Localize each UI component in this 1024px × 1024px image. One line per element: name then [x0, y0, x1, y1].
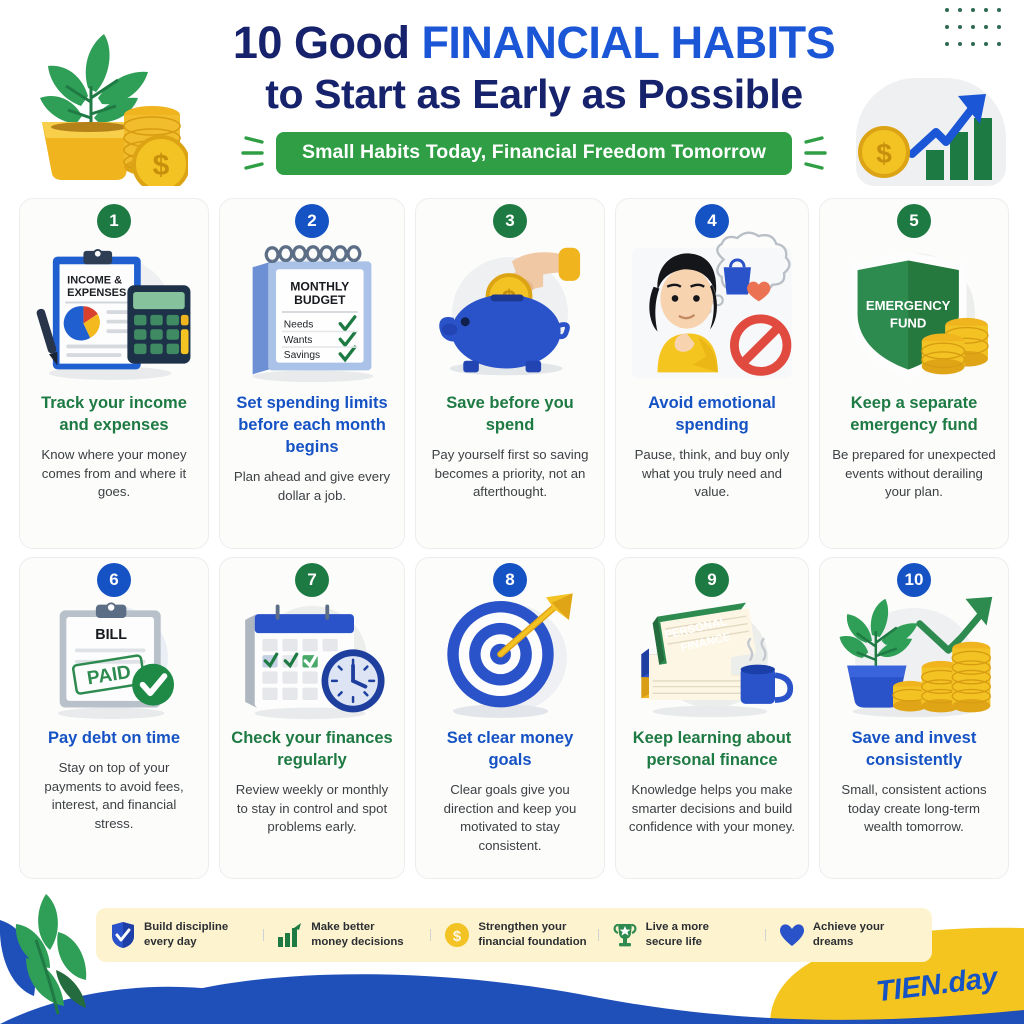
- habit-card-3[interactable]: 3 $ Save: [415, 198, 605, 549]
- habit-description: Stay on top of your payments to avoid fe…: [28, 759, 200, 834]
- habit-number-badge: 10: [897, 563, 931, 597]
- benefit-label: Live a more secure life: [646, 920, 709, 950]
- dollar-coin-icon: $: [444, 922, 470, 948]
- habit-description: Small, consistent actions today create l…: [828, 781, 1000, 837]
- svg-text:EMERGENCY: EMERGENCY: [866, 298, 951, 313]
- svg-text:$: $: [153, 149, 170, 182]
- habit-card-5[interactable]: 5 EMERGENCY FUND: [819, 198, 1009, 549]
- benefit-line1: Achieve your: [813, 921, 885, 933]
- habit-number-badge: 3: [493, 204, 527, 238]
- habit-title: Check your finances regularly: [228, 728, 396, 772]
- habit-card-6[interactable]: 6 BILL PAID Pay debt on ti: [19, 557, 209, 879]
- monthly-budget-notepad-icon: MONTHLY BUDGET Needs Wants Savings: [228, 239, 396, 387]
- habit-card-2[interactable]: 2 MONTHLY BUDGET Needs Wants Savings: [219, 198, 405, 549]
- habit-card-8[interactable]: 8 Set clear money goals Clear goals give…: [415, 557, 605, 879]
- benefit-label: Make better money decisions: [311, 920, 403, 950]
- habit-title: Keep learning about personal finance: [624, 728, 800, 772]
- habit-card-10[interactable]: 10: [819, 557, 1009, 879]
- bar-chart-up-icon: [277, 922, 303, 948]
- benefit-line1: Strengthen your: [478, 921, 566, 933]
- habit-card-7[interactable]: 7: [219, 557, 405, 879]
- benefit-line1: Live a more: [646, 921, 709, 933]
- habit-title: Track your income and expenses: [28, 393, 200, 437]
- svg-text:EXPENSES: EXPENSES: [67, 287, 126, 299]
- benefit-item-dreams[interactable]: Achieve your dreams: [765, 920, 932, 950]
- benefit-line2: dreams: [813, 936, 854, 948]
- target-with-arrow-icon: [424, 594, 596, 722]
- benefit-item-discipline[interactable]: Build discipline every day: [96, 920, 263, 950]
- svg-text:Savings: Savings: [284, 350, 320, 361]
- shield-check-icon: [110, 922, 136, 948]
- benefit-line2: money decisions: [311, 936, 403, 948]
- habit-card-4[interactable]: 4: [615, 198, 809, 549]
- trophy-icon: [612, 922, 638, 948]
- habit-description: Pay yourself first so saving becomes a p…: [424, 446, 596, 502]
- hand-dropping-coin-into-piggy-bank-icon: $: [424, 239, 596, 387]
- benefit-item-secure-life[interactable]: Live a more secure life: [598, 920, 765, 950]
- coin-dollar-label: $: [876, 138, 892, 169]
- habit-description: Review weekly or monthly to stay in cont…: [228, 781, 396, 837]
- title-plain-part: 10 Good: [233, 17, 422, 68]
- heart-icon: [779, 922, 805, 948]
- emergency-fund-shield-with-coins-icon: EMERGENCY FUND: [828, 239, 1000, 387]
- benefit-line2: financial foundation: [478, 936, 586, 948]
- habit-number-badge: 9: [695, 563, 729, 597]
- benefit-line1: Make better: [311, 921, 374, 933]
- habit-description: Clear goals give you direction and keep …: [424, 781, 596, 856]
- svg-text:$: $: [453, 928, 462, 945]
- svg-text:BILL: BILL: [95, 627, 127, 643]
- habit-number-badge: 4: [695, 204, 729, 238]
- svg-text:FUND: FUND: [890, 316, 926, 331]
- title-block: 10 Good FINANCIAL HABITS to Start as Ear…: [184, 18, 884, 175]
- habit-description: Know where your money comes from and whe…: [28, 446, 200, 502]
- habit-title: Pay debt on time: [46, 728, 182, 750]
- habit-title: Set clear money goals: [424, 728, 596, 772]
- page-title-line2: to Start as Early as Possible: [184, 70, 884, 119]
- benefit-item-decisions[interactable]: Make better money decisions: [263, 920, 430, 950]
- svg-text:Wants: Wants: [284, 335, 313, 346]
- habit-title: Save and invest consistently: [828, 728, 1000, 772]
- habit-number-badge: 7: [295, 563, 329, 597]
- growth-chart-with-coin-illustration: $: [854, 84, 1002, 184]
- svg-text:Needs: Needs: [284, 320, 314, 331]
- stacked-books-with-coffee-mug-icon: PERSONAL FINANCE: [624, 594, 800, 722]
- ribbon-row: Small Habits Today, Financial Freedom To…: [184, 132, 884, 175]
- habit-description: Knowledge helps you make smarter decisio…: [624, 781, 800, 837]
- benefit-label: Strengthen your financial foundation: [478, 920, 586, 950]
- habit-title: Avoid emotional spending: [624, 393, 800, 437]
- subtitle-ribbon: Small Habits Today, Financial Freedom To…: [276, 132, 792, 175]
- benefit-line2: secure life: [646, 936, 702, 948]
- habit-description: Pause, think, and buy only what you trul…: [624, 446, 800, 502]
- header: $ 10 Good FINANCIAL HABITS to Start as E…: [0, 0, 1024, 192]
- benefit-line2: every day: [144, 936, 197, 948]
- title-accent-part: FINANCIAL HABITS: [421, 17, 835, 68]
- habit-title: Save before you spend: [424, 393, 596, 437]
- woman-thinking-shopping-bag-prohibited-icon: [624, 239, 800, 387]
- habit-card-9[interactable]: 9 PERSONAL: [615, 557, 809, 879]
- svg-text:INCOME &: INCOME &: [67, 274, 122, 286]
- habit-description: Be prepared for unexpected events withou…: [828, 446, 1000, 502]
- habit-number-badge: 5: [897, 204, 931, 238]
- benefit-label: Achieve your dreams: [813, 920, 885, 950]
- svg-text:BUDGET: BUDGET: [294, 293, 346, 307]
- habit-title: Keep a separate emergency fund: [828, 393, 1000, 437]
- habit-card-1[interactable]: 1 INCOME & EXPENSES: [19, 198, 209, 549]
- svg-text:MONTHLY: MONTHLY: [290, 280, 349, 294]
- habit-number-badge: 6: [97, 563, 131, 597]
- sparkle-left-icon: [240, 136, 266, 170]
- calendar-with-clock-icon: [228, 594, 396, 722]
- habit-number-badge: 2: [295, 204, 329, 238]
- habit-number-badge: 8: [493, 563, 527, 597]
- habit-number-badge: 1: [97, 204, 131, 238]
- benefit-item-foundation[interactable]: $ Strengthen your financial foundation: [430, 920, 597, 950]
- habit-description: Plan ahead and give every dollar a job.: [228, 468, 396, 505]
- bill-paid-clipboard-with-check-icon: BILL PAID: [28, 594, 200, 722]
- page-title-line1: 10 Good FINANCIAL HABITS: [184, 18, 884, 68]
- sparkle-right-icon: [802, 136, 828, 170]
- habit-title: Set spending limits before each month be…: [228, 393, 396, 459]
- benefit-label: Build discipline every day: [144, 920, 228, 950]
- habits-grid: 1 INCOME & EXPENSES: [19, 198, 1005, 879]
- benefits-strip: Build discipline every day Make better m…: [96, 908, 932, 962]
- clipboard-pie-chart-calculator-icon: INCOME & EXPENSES: [28, 239, 200, 387]
- plant-coin-stacks-growth-arrow-icon: [828, 594, 1000, 722]
- potted-plant-with-coins-illustration: $: [6, 14, 188, 186]
- benefit-line1: Build discipline: [144, 921, 228, 933]
